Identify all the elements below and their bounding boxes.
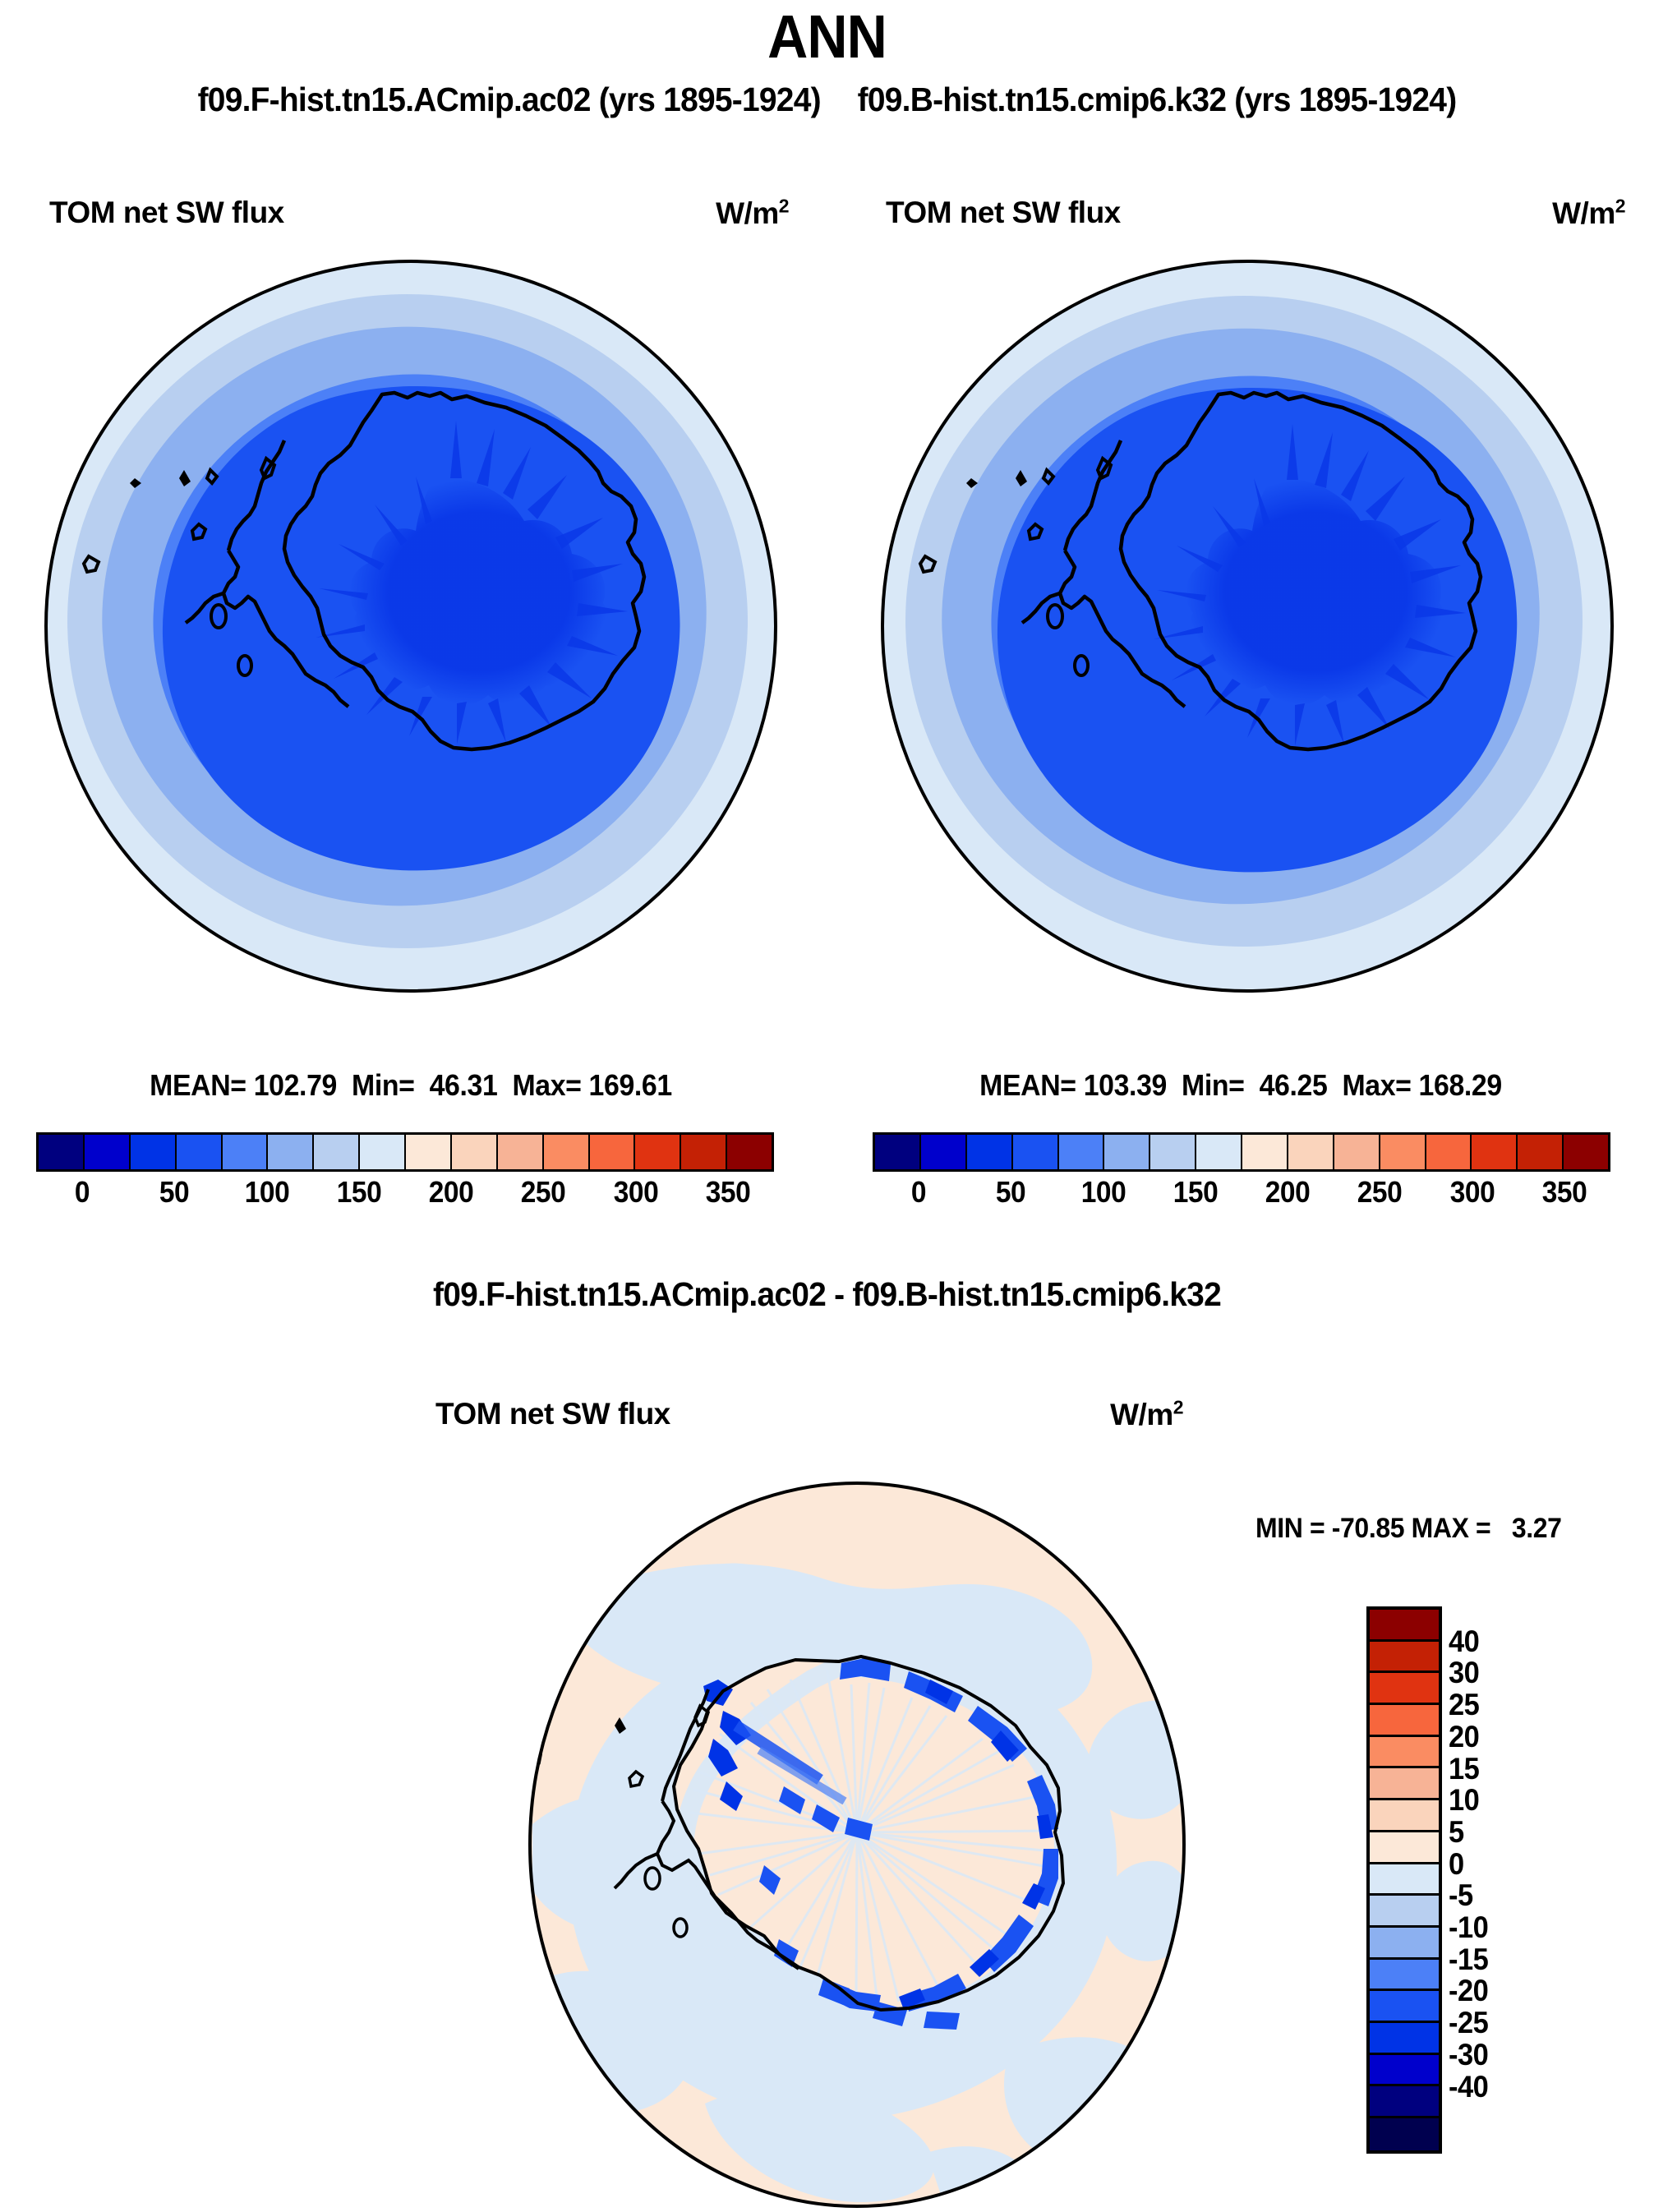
colorbar-tick-label: -10 [1449,1910,1488,1945]
colorbar-cell [1370,2055,1439,2087]
colorbar-cell [727,1135,772,1169]
colorbar-cell [967,1135,1013,1169]
colorbar-tick-label: -30 [1449,2038,1488,2072]
colorbar-cell [1370,1928,1439,1960]
left-stats: MEAN= 102.79 Min= 46.31 Max= 169.61 [40,1068,781,1103]
colorbar-tick-label: 150 [1173,1175,1218,1210]
colorbar-tick-label: 15 [1449,1752,1479,1786]
colorbar-tick-label: -25 [1449,2006,1488,2040]
difference-colorbar-ticks: 40302520151050-5-10-15-20-25-30-40 [1449,1606,1613,2148]
colorbar-cell [1370,1800,1439,1832]
left-map-svg [23,232,799,1021]
colorbar-cell [1518,1135,1564,1169]
colorbar-cell [1564,1135,1608,1169]
colorbar-cell [85,1135,131,1169]
colorbar-tick-label: -20 [1449,1974,1488,2008]
diff-units-text: W/m2 [1110,1398,1183,1431]
colorbar-tick-label: 10 [1449,1783,1479,1818]
right-units-label: W/m2 [1412,196,1625,231]
difference-map-svg [434,1479,1280,2210]
left-units-label: W/m2 [575,196,789,231]
colorbar-cell [590,1135,636,1169]
left-field-label-text: TOM net SW flux [49,196,284,229]
colorbar-tick-label: 250 [521,1175,565,1210]
colorbar-tick-label: 30 [1449,1656,1479,1690]
diff-units-label: W/m2 [970,1397,1183,1432]
colorbar-tick-label: 300 [1449,1175,1494,1210]
colorbar-cell [39,1135,85,1169]
colorbar-cell [268,1135,314,1169]
colorbar-cell [1380,1135,1426,1169]
right-field-label-text: TOM net SW flux [886,196,1121,229]
colorbar-cell [498,1135,544,1169]
colorbar-cell [1013,1135,1059,1169]
colorbar-tick-label: 350 [706,1175,750,1210]
colorbar-cell [1370,1673,1439,1705]
colorbar-tick-label: 25 [1449,1688,1479,1722]
right-map-svg [859,232,1635,1021]
colorbar-cell [1370,2023,1439,2055]
case-title-right: f09.B-hist.tn15.cmip6.k32 (yrs 1895-1924… [858,81,1457,118]
colorbar-cell [1370,1737,1439,1769]
colorbar-cell [223,1135,269,1169]
left-field-label: TOM net SW flux [49,196,284,230]
left-colorbar[interactable]: 050100150200250300350 [36,1132,774,1214]
right-map[interactable] [859,232,1635,1021]
colorbar-tick-label: 20 [1449,1720,1479,1754]
case-titles-row: f09.F-hist.tn15.ACmip.ac02 (yrs 1895-192… [41,81,1612,119]
colorbar-cell [1242,1135,1288,1169]
colorbar-cell [921,1135,967,1169]
colorbar-tick-label: 100 [1080,1175,1125,1210]
colorbar-cell [635,1135,681,1169]
colorbar-cell [360,1135,406,1169]
colorbar-tick-label: 5 [1449,1815,1464,1850]
colorbar-cell [1370,1642,1439,1674]
diff-field-label-text: TOM net SW flux [435,1397,670,1431]
case-title-left: f09.F-hist.tn15.ACmip.ac02 (yrs 1895-192… [198,81,821,118]
difference-map[interactable] [434,1479,1280,2210]
left-units-text: W/m2 [716,196,789,230]
right-stats: MEAN= 103.39 Min= 46.25 Max= 168.29 [870,1068,1611,1103]
colorbar-cell [314,1135,360,1169]
colorbar-tick-label: 0 [1449,1847,1464,1882]
colorbar-cell [1370,1864,1439,1896]
colorbar-cell [875,1135,921,1169]
colorbar-cell [1370,1768,1439,1800]
colorbar-cell [1288,1135,1334,1169]
colorbar-tick-label: -5 [1449,1878,1473,1913]
colorbar-tick-label: 50 [996,1175,1025,1210]
colorbar-cell [452,1135,498,1169]
difference-minmax: MIN = -70.85 MAX = 3.27 [1255,1513,1562,1545]
difference-colorbar-cells[interactable] [1366,1606,1442,2154]
colorbar-cell [1370,2086,1439,2118]
colorbar-tick-label: 350 [1542,1175,1587,1210]
left-colorbar-ticks: 050100150200250300350 [36,1172,774,1214]
colorbar-cell [1370,1705,1439,1737]
diff-field-label: TOM net SW flux [435,1397,670,1431]
right-field-label: TOM net SW flux [886,196,1121,230]
colorbar-tick-label: 40 [1449,1624,1479,1659]
colorbar-cell [681,1135,727,1169]
colorbar-tick-label: 200 [1265,1175,1310,1210]
colorbar-tick-label: 0 [911,1175,926,1210]
left-colorbar-cells[interactable] [36,1132,774,1172]
colorbar-tick-label: 100 [244,1175,288,1210]
left-map[interactable] [23,232,799,1021]
colorbar-cell [1150,1135,1196,1169]
colorbar-cell [1370,1991,1439,2023]
page-title: ANN [67,2,1588,71]
colorbar-cell [1059,1135,1105,1169]
colorbar-tick-label: 300 [613,1175,657,1210]
colorbar-cell [406,1135,452,1169]
colorbar-cell [1426,1135,1472,1169]
colorbar-cell [1370,2118,1439,2150]
colorbar-cell [1370,1610,1439,1642]
right-units-text: W/m2 [1552,196,1625,230]
colorbar-cell [1370,1896,1439,1928]
colorbar-tick-label: -40 [1449,2070,1488,2104]
right-colorbar-cells[interactable] [873,1132,1610,1172]
colorbar-cell [1370,1832,1439,1864]
colorbar-cell [1104,1135,1150,1169]
right-colorbar[interactable]: 050100150200250300350 [873,1132,1610,1214]
colorbar-cell [1472,1135,1518,1169]
colorbar-cell [131,1135,177,1169]
colorbar-tick-label: 200 [429,1175,473,1210]
right-colorbar-ticks: 050100150200250300350 [873,1172,1610,1214]
difference-title: f09.F-hist.tn15.ACmip.ac02 - f09.B-hist.… [41,1275,1612,1314]
colorbar-tick-label: 50 [159,1175,189,1210]
difference-colorbar[interactable]: 40302520151050-5-10-15-20-25-30-40 [1366,1606,1442,2154]
colorbar-cell [1370,1960,1439,1992]
colorbar-tick-label: 0 [75,1175,90,1210]
colorbar-cell [544,1135,590,1169]
colorbar-cell [1196,1135,1242,1169]
colorbar-cell [177,1135,223,1169]
colorbar-tick-label: 150 [337,1175,381,1210]
colorbar-cell [1334,1135,1380,1169]
colorbar-tick-label: -15 [1449,1942,1488,1977]
colorbar-tick-label: 250 [1357,1175,1402,1210]
